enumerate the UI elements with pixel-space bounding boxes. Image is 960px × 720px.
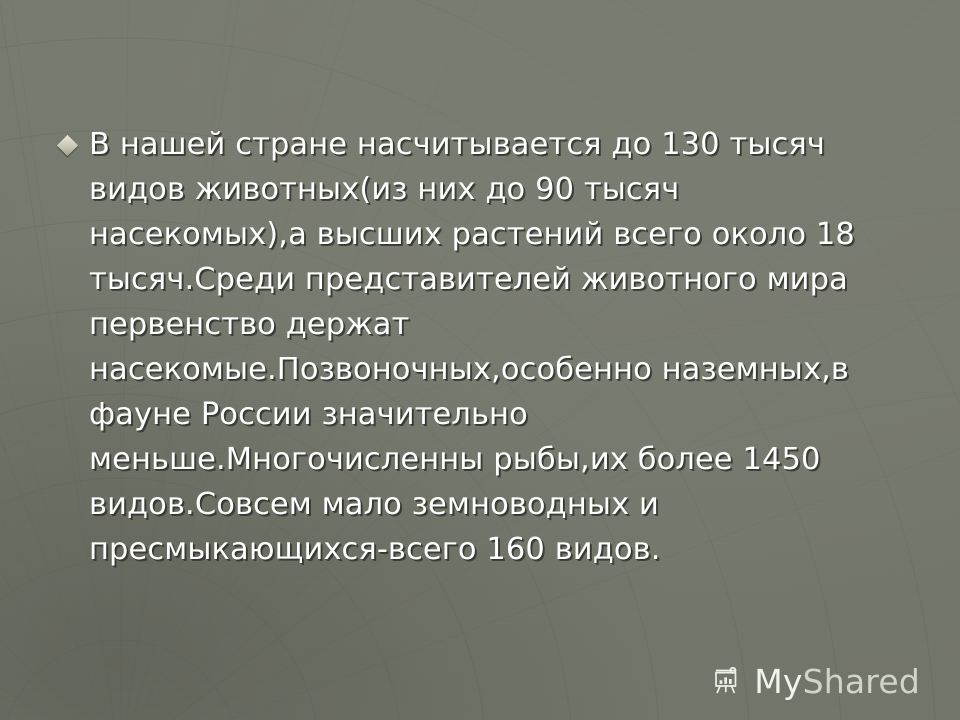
bullet-item-text: В нашей стране насчитывается до 130 тыся… [89, 122, 900, 572]
myshared-word-my: My [754, 662, 802, 701]
diamond-bullet-icon [57, 135, 78, 156]
myshared-word-shared: Shared [803, 662, 920, 701]
myshared-watermark: MyShared [711, 664, 920, 698]
presentation-slide: В нашей стране насчитывается до 130 тыся… [0, 0, 960, 720]
flipchart-bar-chart-icon [711, 664, 745, 698]
slide-body: В нашей стране насчитывается до 130 тыся… [60, 122, 900, 572]
myshared-wordmark: MyShared [754, 665, 920, 698]
bullet-list-item: В нашей стране насчитывается до 130 тыся… [60, 122, 900, 572]
